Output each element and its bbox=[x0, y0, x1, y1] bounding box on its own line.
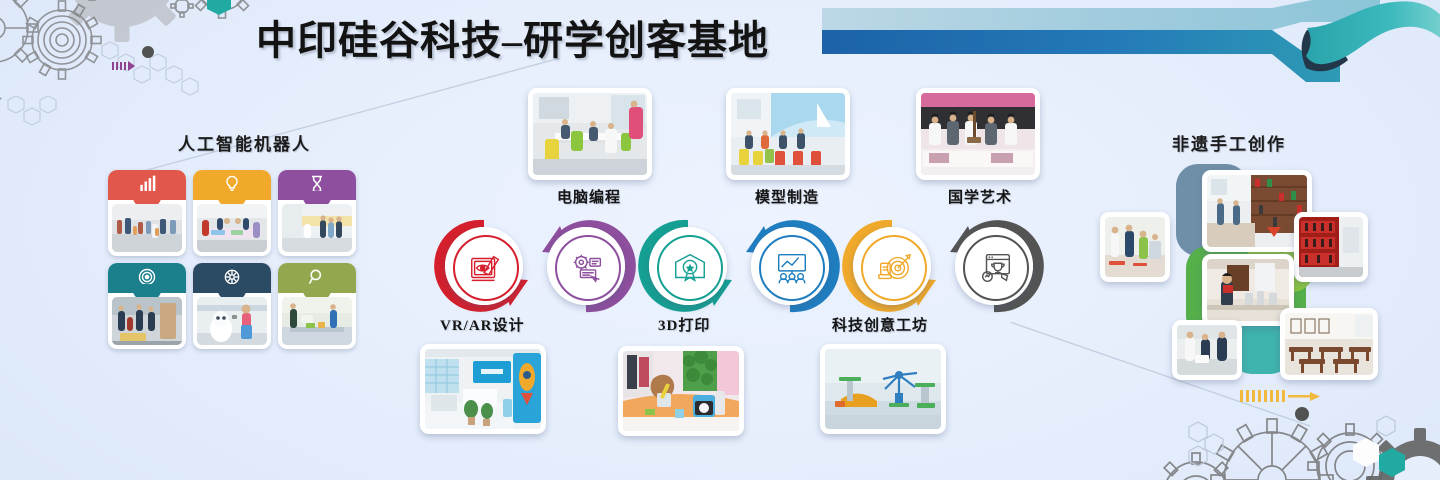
card-header bbox=[278, 263, 356, 293]
photo-card[interactable] bbox=[916, 88, 1040, 180]
card-header bbox=[278, 170, 356, 200]
hourglass-icon bbox=[307, 174, 327, 194]
ring-label: VR/AR设计 bbox=[440, 314, 525, 335]
photo-card-label: 模型制造 bbox=[755, 186, 819, 207]
ai-robot-card-grid bbox=[108, 170, 356, 350]
programming-ring[interactable] bbox=[534, 214, 638, 318]
photo-card[interactable] bbox=[1172, 320, 1242, 380]
photo bbox=[425, 349, 541, 429]
process-ring-row bbox=[432, 214, 1044, 322]
infographic-banner: 中印硅谷科技–研学创客基地 人工智能机器人 非遗手工创作 bbox=[0, 0, 1440, 480]
card-photo bbox=[112, 297, 182, 345]
photo-card[interactable] bbox=[1280, 308, 1378, 380]
vr-design-icon bbox=[467, 249, 505, 287]
photo bbox=[1105, 217, 1165, 277]
photo-card[interactable] bbox=[618, 346, 744, 436]
grid-card[interactable] bbox=[193, 263, 271, 349]
ring-label: 科技创意工坊 bbox=[832, 314, 928, 335]
card-header bbox=[108, 170, 186, 200]
photo bbox=[1177, 325, 1237, 375]
right-section-heading: 非遗手工创作 bbox=[1172, 130, 1286, 155]
handicraft-photo-cluster bbox=[1098, 160, 1388, 375]
gear-decoration-top-left bbox=[0, 0, 300, 144]
card-header bbox=[193, 263, 271, 293]
gear-icon bbox=[222, 267, 242, 287]
card-photo bbox=[112, 204, 182, 252]
presentation-team-icon bbox=[773, 249, 811, 287]
card-photo bbox=[197, 204, 267, 252]
card-header bbox=[193, 170, 271, 200]
photo-card-label: 国学艺术 bbox=[948, 186, 1012, 207]
photo bbox=[1299, 217, 1363, 277]
vr-ar-ring[interactable] bbox=[432, 214, 536, 318]
photo-card[interactable] bbox=[1294, 212, 1368, 282]
photo bbox=[1207, 175, 1307, 247]
ribbon-decoration bbox=[820, 0, 1440, 90]
photo bbox=[731, 93, 845, 175]
lightbulb-icon bbox=[222, 174, 242, 194]
photo bbox=[623, 351, 739, 431]
model-ring[interactable] bbox=[738, 214, 842, 318]
grid-card[interactable] bbox=[278, 170, 356, 256]
photo bbox=[921, 93, 1035, 175]
photo bbox=[1285, 313, 1373, 375]
card-photo bbox=[282, 297, 352, 345]
diagonal-line-decoration bbox=[140, 58, 560, 178]
photo bbox=[533, 93, 647, 175]
grid-card[interactable] bbox=[278, 263, 356, 349]
photo-card[interactable] bbox=[528, 88, 652, 180]
photo-card[interactable] bbox=[420, 344, 546, 434]
code-gear-icon bbox=[569, 249, 607, 287]
target-icon bbox=[137, 267, 157, 287]
printing-ring[interactable] bbox=[636, 214, 740, 318]
trophy-screen-icon bbox=[977, 249, 1015, 287]
photo-card[interactable] bbox=[1100, 212, 1170, 282]
photo bbox=[1207, 259, 1289, 321]
award-badge-icon bbox=[671, 249, 709, 287]
ring-label: 3D打印 bbox=[658, 314, 710, 335]
workshop-ring[interactable] bbox=[840, 214, 944, 318]
photo-card[interactable] bbox=[726, 88, 850, 180]
card-header bbox=[108, 263, 186, 293]
grid-card[interactable] bbox=[193, 170, 271, 256]
bar-chart-icon bbox=[137, 174, 157, 194]
photo bbox=[825, 349, 941, 429]
photo-card[interactable] bbox=[820, 344, 946, 434]
left-section-heading: 人工智能机器人 bbox=[178, 130, 311, 155]
page-title: 中印硅谷科技–研学创客基地 bbox=[256, 8, 769, 66]
photo-card-label: 电脑编程 bbox=[557, 186, 621, 207]
grid-card[interactable] bbox=[108, 170, 186, 256]
card-photo bbox=[197, 297, 267, 345]
card-photo bbox=[282, 204, 352, 252]
target-dart-icon bbox=[875, 249, 913, 287]
magnifier-icon bbox=[307, 267, 327, 287]
grid-card[interactable] bbox=[108, 263, 186, 349]
art-ring[interactable] bbox=[942, 214, 1046, 318]
